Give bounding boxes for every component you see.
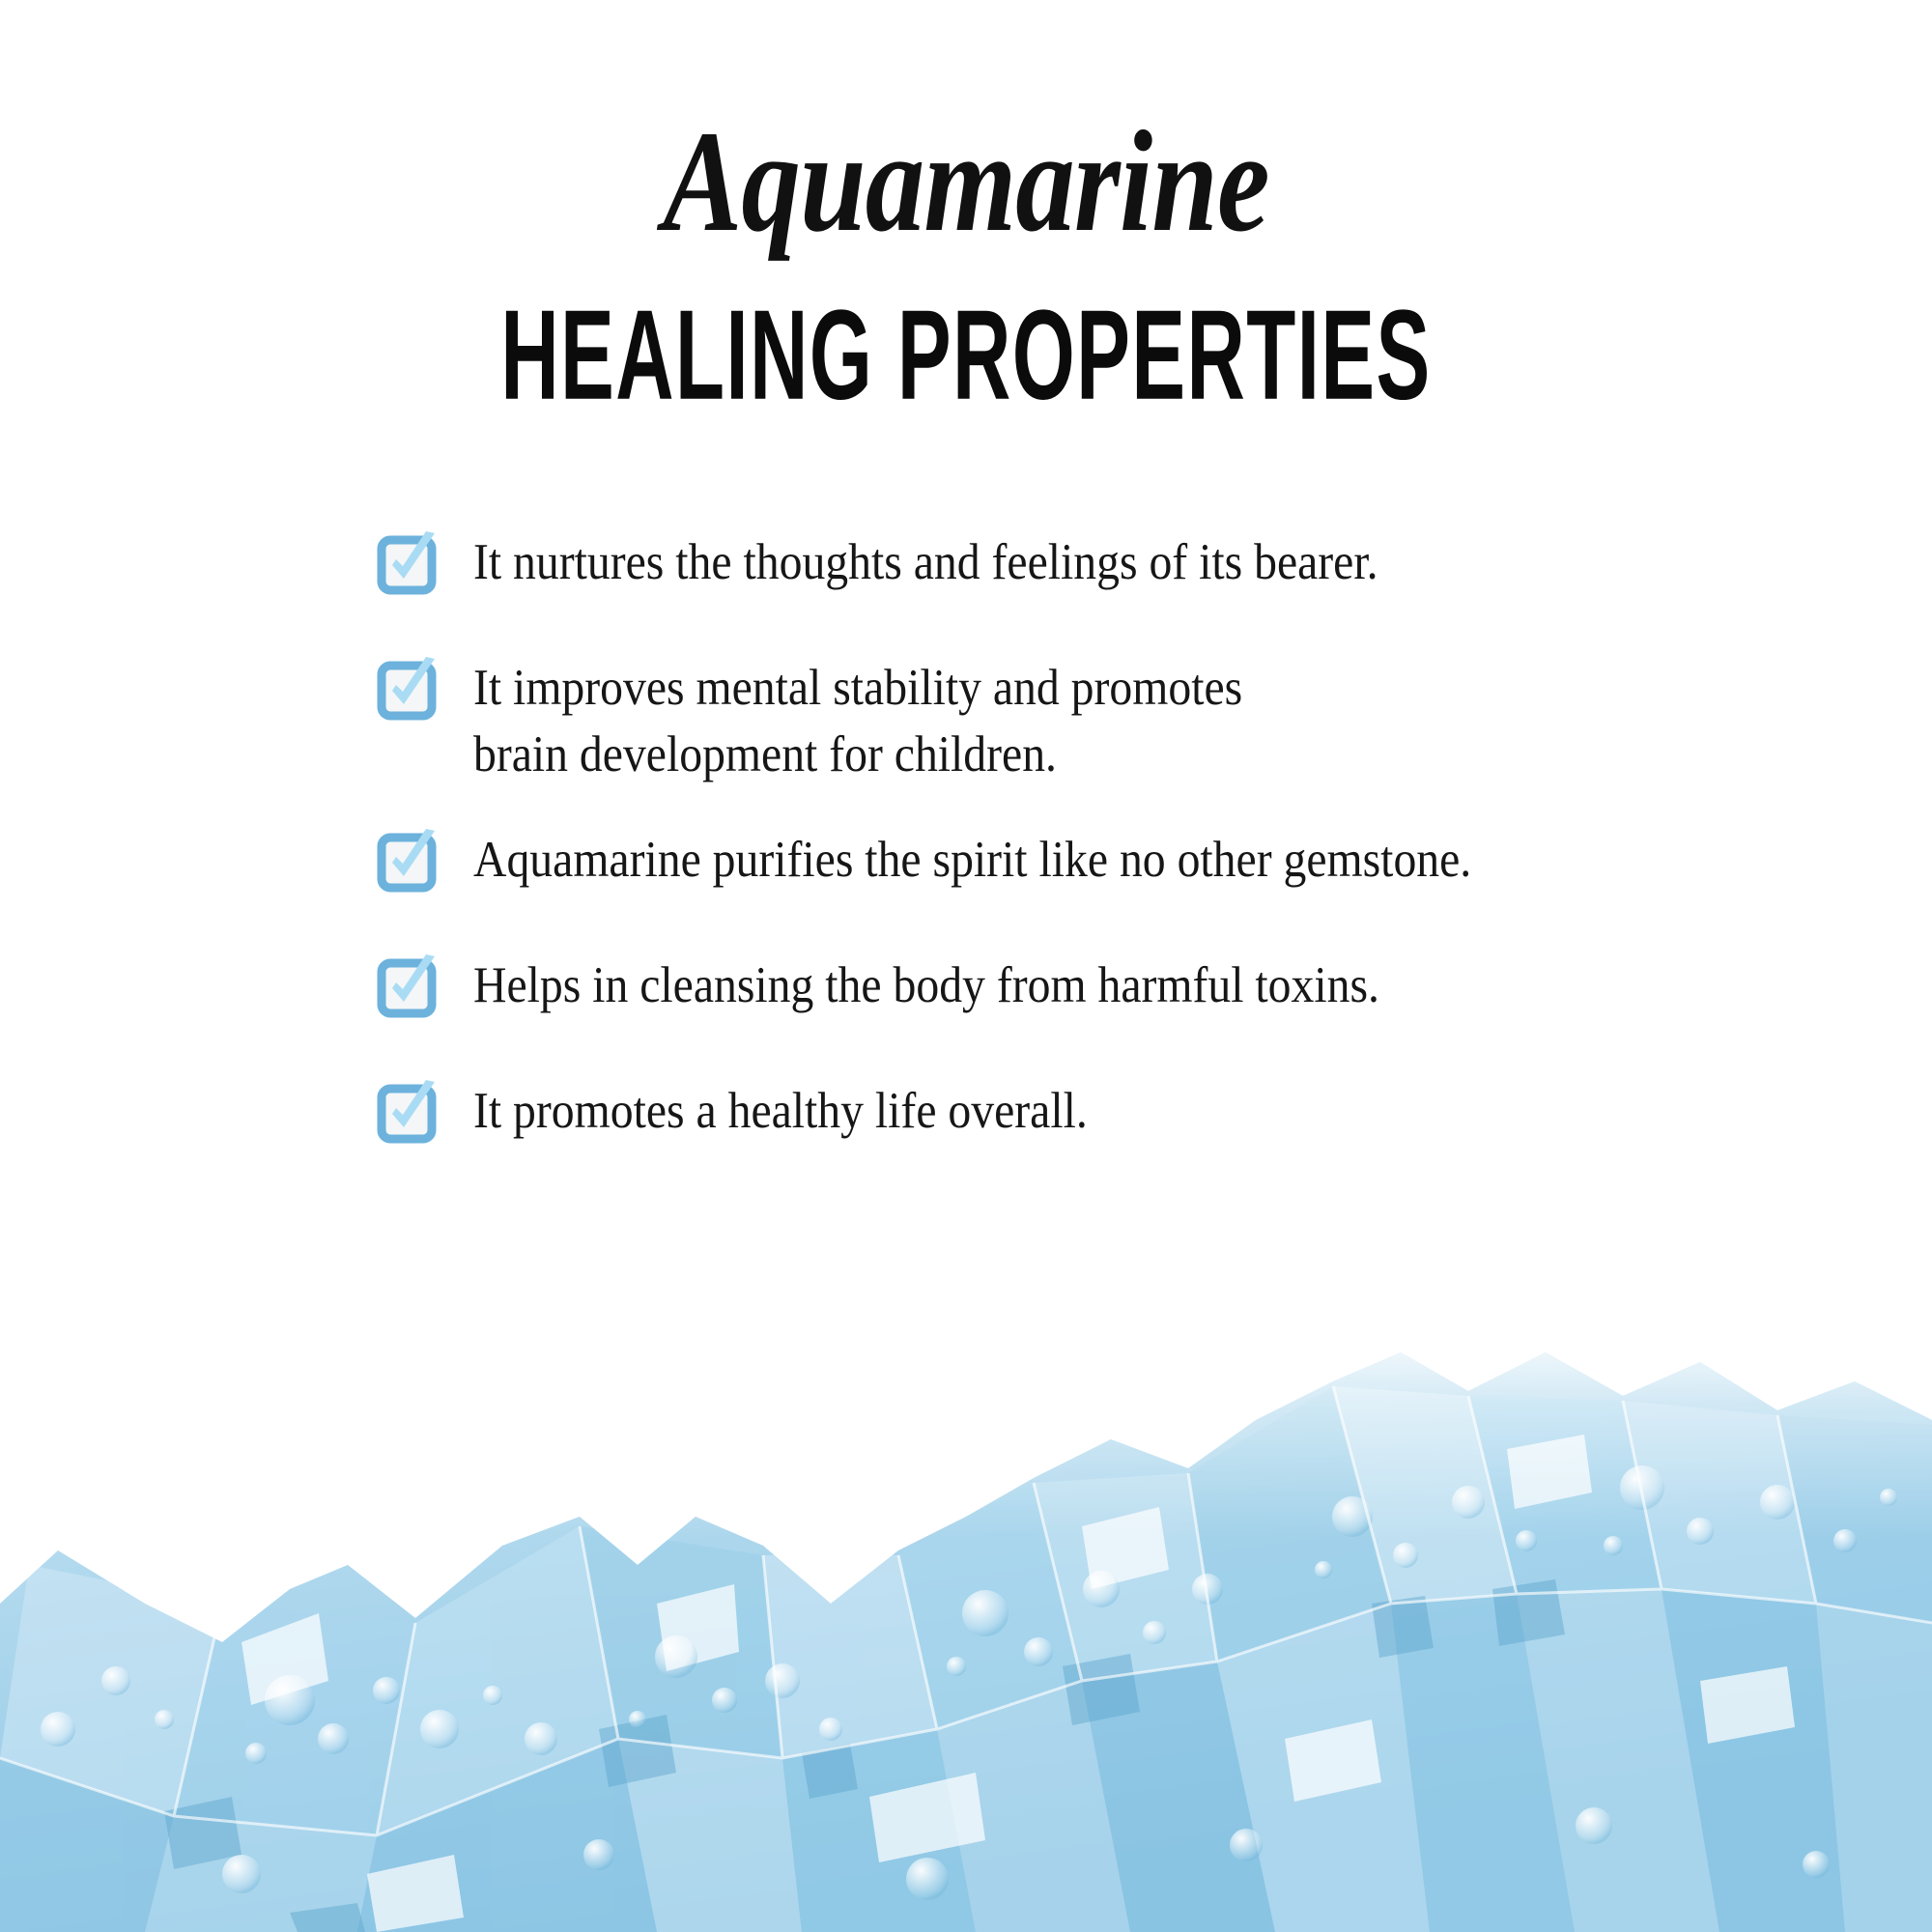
list-item-label: It improves mental stability and promote… — [473, 653, 1242, 788]
list-item-label: Aquamarine purifies the spirit like no o… — [473, 825, 1471, 894]
list-item-label: Helps in cleansing the body from harmful… — [473, 951, 1379, 1019]
page-subtitle: HEALING PROPERTIES — [270, 291, 1662, 418]
infographic-poster: Aquamarine HEALING PROPERTIES It nurture… — [0, 0, 1932, 1932]
poster-header: Aquamarine HEALING PROPERTIES — [0, 0, 1932, 403]
list-item-label: It nurtures the thoughts and feelings of… — [473, 527, 1378, 596]
page-title: Aquamarine — [174, 108, 1758, 256]
checkbox-checked-icon — [379, 531, 439, 597]
list-item: Aquamarine purifies the spirit like no o… — [379, 825, 1731, 895]
list-item: It nurtures the thoughts and feelings of… — [379, 527, 1731, 597]
list-item: Helps in cleansing the body from harmful… — [379, 951, 1731, 1020]
checkbox-checked-icon — [379, 657, 439, 723]
list-item: It improves mental stability and promote… — [379, 653, 1731, 788]
checkbox-checked-icon — [379, 954, 439, 1020]
checkbox-checked-icon — [379, 829, 439, 895]
ice-cubes-photo — [0, 1063, 1932, 1932]
